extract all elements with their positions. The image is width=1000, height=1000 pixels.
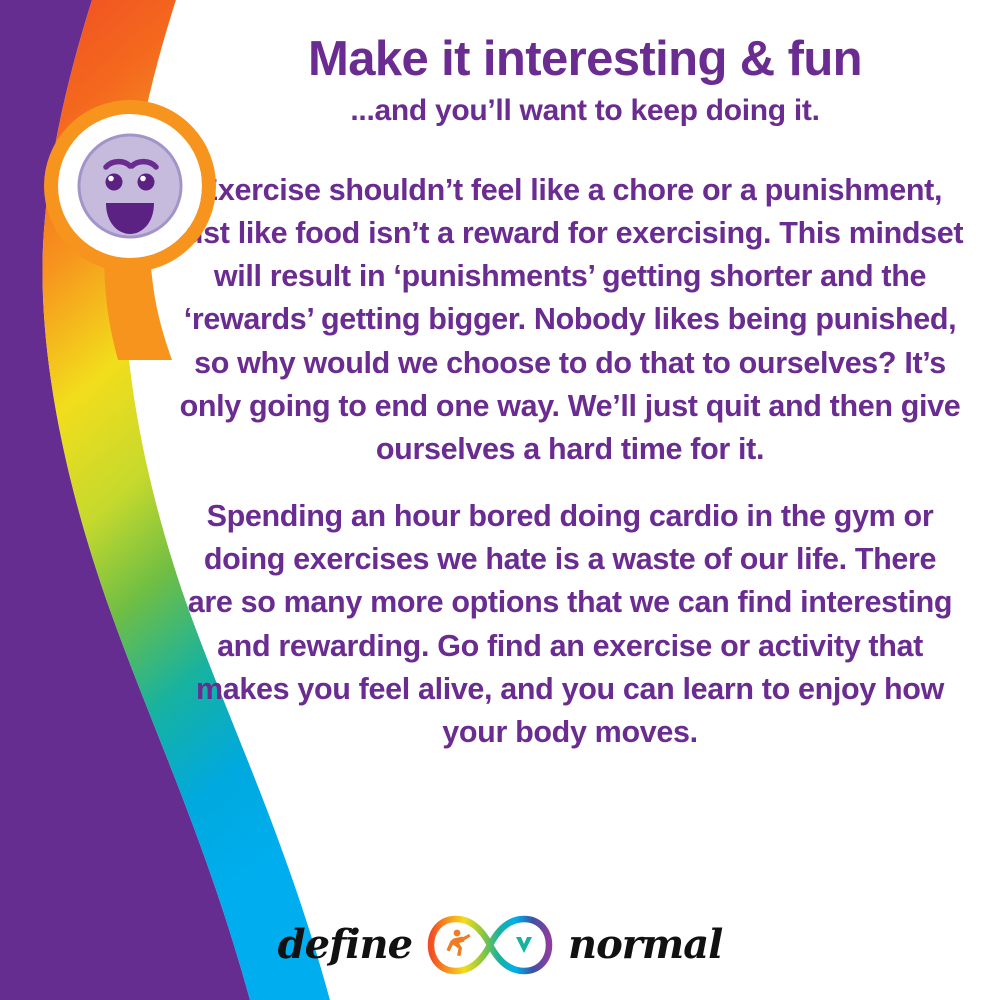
brand-word-normal: normal [568, 925, 722, 965]
smiling-face-icon [79, 135, 181, 237]
smiley-badge [44, 100, 216, 272]
running-person-icon [447, 930, 471, 956]
body-paragraph-1: Exercise shouldn’t feel like a chore or … [173, 169, 968, 471]
brand-word-define: define [278, 925, 412, 965]
page-title: Make it interesting & fun [150, 34, 990, 86]
content-column: Make it interesting & fun ...and you’ll … [150, 0, 990, 1000]
body-paragraph-2: Spending an hour bored doing cardio in t… [183, 495, 958, 754]
brand-logo: define [0, 908, 1000, 982]
rainbow-infinity-icon [426, 913, 554, 977]
page-subtitle: ...and you’ll want to keep doing it. [150, 94, 990, 127]
check-mark-icon [516, 937, 532, 953]
poster-canvas: Make it interesting & fun ...and you’ll … [0, 0, 1000, 1000]
